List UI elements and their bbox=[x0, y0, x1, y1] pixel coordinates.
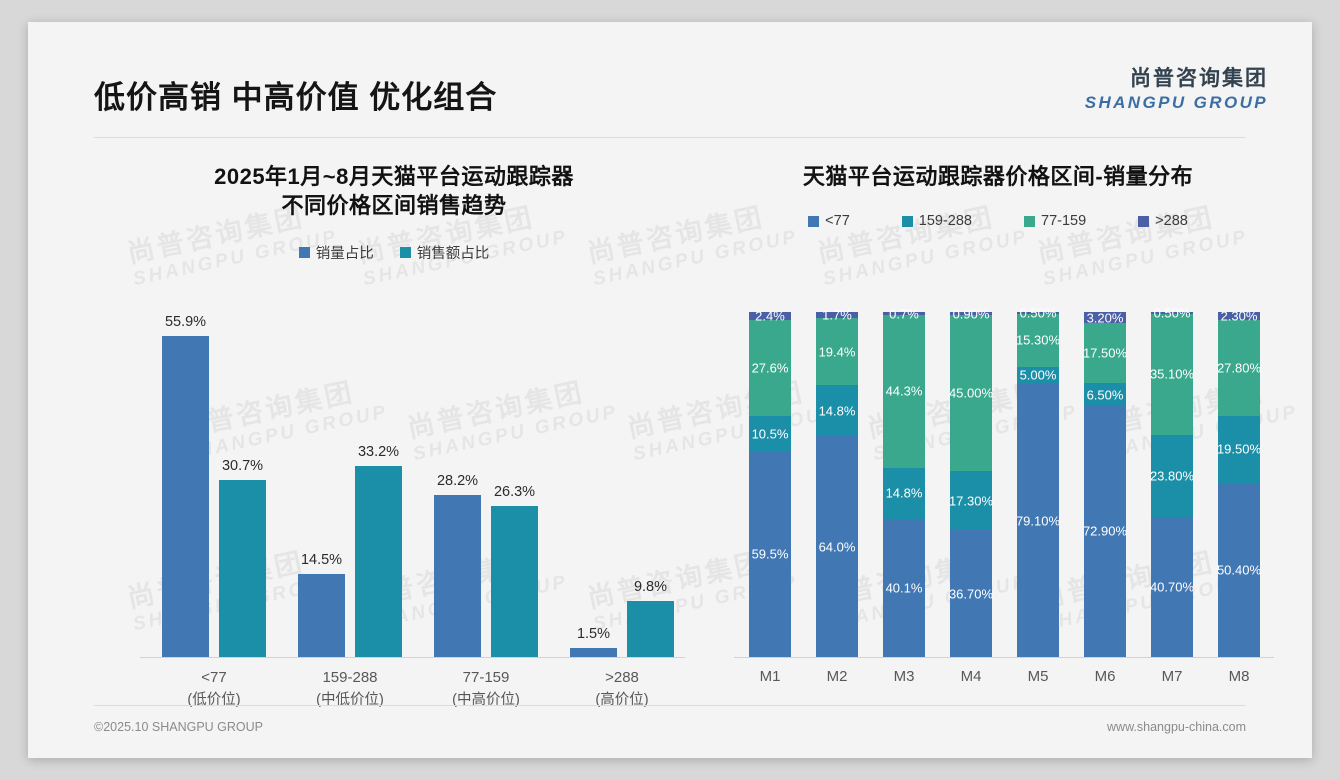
stack-segment[interactable]: 3.20% bbox=[1084, 312, 1126, 323]
legend-label: 77-159 bbox=[1041, 213, 1086, 229]
stack-segment[interactable]: 5.00% bbox=[1017, 367, 1059, 384]
legend-swatch-icon bbox=[1138, 216, 1149, 227]
category-label-sub: (中高价位) bbox=[420, 690, 552, 712]
stacked-bar[interactable]: 40.70%23.80%35.10%0.50% bbox=[1151, 312, 1193, 657]
stack-segment[interactable]: 40.1% bbox=[883, 519, 925, 657]
stack-segment[interactable]: 64.0% bbox=[816, 436, 858, 657]
bar-group: 28.2%26.3% bbox=[420, 312, 552, 657]
logo-chinese-text: 尚普咨询集团 bbox=[1085, 62, 1268, 92]
left-chart-title-line2: 不同价格区间销售趋势 bbox=[94, 191, 694, 220]
left-chart-axis-line bbox=[140, 657, 685, 658]
category-label: M1 bbox=[736, 668, 804, 685]
stack-segment[interactable]: 79.10% bbox=[1017, 384, 1059, 657]
stack-segment[interactable]: 0.7% bbox=[883, 312, 925, 314]
stacked-bar[interactable]: 79.10%5.00%15.30%0.50% bbox=[1017, 312, 1059, 657]
stack-segment[interactable]: 0.90% bbox=[950, 312, 992, 315]
segment-value-label: 15.30% bbox=[1016, 333, 1060, 348]
stack-segment[interactable]: 17.50% bbox=[1084, 323, 1126, 383]
segment-value-label: 2.4% bbox=[755, 309, 785, 324]
category-label: M3 bbox=[870, 668, 938, 685]
legend-item-0[interactable]: 销量占比 bbox=[299, 242, 374, 263]
legend-label: 销量占比 bbox=[316, 242, 374, 263]
stack-segment[interactable]: 27.6% bbox=[749, 320, 791, 415]
stack-segment[interactable]: 19.50% bbox=[1218, 416, 1260, 483]
stacked-bar-group: 36.70%17.30%45.00%0.90% bbox=[937, 312, 1005, 657]
segment-value-label: 79.10% bbox=[1016, 513, 1060, 528]
stack-segment[interactable]: 45.00% bbox=[950, 315, 992, 470]
legend-item-1[interactable]: 159-288 bbox=[902, 213, 972, 229]
segment-value-label: 2.30% bbox=[1221, 308, 1258, 323]
stack-segment[interactable]: 14.8% bbox=[816, 385, 858, 436]
segment-value-label: 14.8% bbox=[819, 403, 856, 418]
bar-group: 55.9%30.7% bbox=[148, 312, 280, 657]
stack-segment[interactable]: 2.4% bbox=[749, 312, 791, 320]
segment-value-label: 0.7% bbox=[889, 306, 919, 321]
stack-segment[interactable]: 23.80% bbox=[1151, 435, 1193, 517]
bar-rect[interactable] bbox=[219, 480, 266, 657]
slide-header: 低价高销 中高价值 优化组合 尚普咨询集团 SHANGPU GROUP bbox=[28, 22, 1312, 114]
bar-value-label: 30.7% bbox=[222, 458, 263, 474]
bar-column[interactable]: 28.2% bbox=[434, 312, 481, 657]
right-chart-axis-line bbox=[734, 657, 1274, 658]
legend-label: 159-288 bbox=[919, 213, 972, 229]
stack-segment[interactable]: 27.80% bbox=[1218, 320, 1260, 416]
legend-swatch-icon bbox=[299, 247, 310, 258]
category-label-main: >288 bbox=[556, 667, 688, 690]
segment-value-label: 27.6% bbox=[752, 360, 789, 375]
category-label: M8 bbox=[1205, 668, 1273, 685]
segment-value-label: 14.8% bbox=[886, 486, 923, 501]
stack-segment[interactable]: 6.50% bbox=[1084, 383, 1126, 405]
stacked-bar-group: 59.5%10.5%27.6%2.4% bbox=[736, 312, 804, 657]
segment-value-label: 23.80% bbox=[1150, 468, 1194, 483]
legend-swatch-icon bbox=[400, 247, 411, 258]
stack-segment[interactable]: 14.8% bbox=[883, 468, 925, 519]
company-logo: 尚普咨询集团 SHANGPU GROUP bbox=[1085, 62, 1268, 113]
logo-english-text: SHANGPU GROUP bbox=[1085, 93, 1268, 113]
footer-copyright: ©2025.10 SHANGPU GROUP bbox=[94, 720, 263, 734]
bar-group: 1.5%9.8% bbox=[556, 312, 688, 657]
stacked-bar-group: 64.0%14.8%19.4%1.7% bbox=[803, 312, 871, 657]
segment-value-label: 40.1% bbox=[886, 580, 923, 595]
legend-item-2[interactable]: 77-159 bbox=[1024, 213, 1086, 229]
stack-segment[interactable]: 0.50% bbox=[1151, 312, 1193, 314]
segment-value-label: 0.50% bbox=[1154, 305, 1191, 320]
stack-segment[interactable]: 0.50% bbox=[1017, 312, 1059, 314]
stack-segment[interactable]: 35.10% bbox=[1151, 314, 1193, 435]
segment-value-label: 17.30% bbox=[949, 493, 993, 508]
left-chart: 2025年1月~8月天猫平台运动跟踪器 不同价格区间销售趋势 销量占比销售额占比… bbox=[94, 162, 694, 722]
category-label-main: <77 bbox=[148, 667, 280, 690]
category-label-main: 77-159 bbox=[420, 667, 552, 690]
segment-value-label: 0.90% bbox=[953, 306, 990, 321]
page-title: 低价高销 中高价值 优化组合 bbox=[94, 72, 497, 117]
legend-item-1[interactable]: 销售额占比 bbox=[400, 242, 490, 263]
left-chart-legend: 销量占比销售额占比 bbox=[94, 242, 694, 263]
category-label-sub: (中低价位) bbox=[284, 690, 416, 712]
stacked-bar-group: 79.10%5.00%15.30%0.50% bbox=[1004, 312, 1072, 657]
segment-value-label: 3.20% bbox=[1087, 310, 1124, 325]
stacked-bar[interactable]: 36.70%17.30%45.00%0.90% bbox=[950, 312, 992, 657]
stacked-bar[interactable]: 40.1%14.8%44.3%0.7% bbox=[883, 312, 925, 657]
bar-value-label: 28.2% bbox=[437, 473, 478, 489]
legend-swatch-icon bbox=[1024, 216, 1035, 227]
segment-value-label: 64.0% bbox=[819, 539, 856, 554]
segment-value-label: 50.40% bbox=[1217, 563, 1261, 578]
stack-segment[interactable]: 44.3% bbox=[883, 315, 925, 468]
stacked-bar-group: 72.90%6.50%17.50%3.20% bbox=[1071, 312, 1139, 657]
category-label: M5 bbox=[1004, 668, 1072, 685]
bar-rect[interactable] bbox=[570, 648, 617, 657]
category-label-main: 159-288 bbox=[284, 667, 416, 690]
segment-value-label: 10.5% bbox=[752, 426, 789, 441]
bar-column[interactable]: 1.5% bbox=[570, 312, 617, 657]
stacked-bar-group: 40.1%14.8%44.3%0.7% bbox=[870, 312, 938, 657]
stack-segment[interactable]: 1.7% bbox=[816, 312, 858, 318]
bar-column[interactable]: 33.2% bbox=[355, 312, 402, 657]
stack-segment[interactable]: 2.30% bbox=[1218, 312, 1260, 320]
bar-rect[interactable] bbox=[355, 466, 402, 657]
category-label-sub: (低价位) bbox=[148, 690, 280, 712]
legend-item-0[interactable]: <77 bbox=[808, 213, 850, 229]
slide-canvas: 尚普咨询集团SHANGPU GROUP尚普咨询集团SHANGPU GROUP尚普… bbox=[28, 22, 1312, 758]
bar-column[interactable]: 55.9% bbox=[162, 312, 209, 657]
stacked-bar-group: 40.70%23.80%35.10%0.50% bbox=[1138, 312, 1206, 657]
legend-label: 销售额占比 bbox=[417, 242, 490, 263]
legend-swatch-icon bbox=[808, 216, 819, 227]
category-label: M2 bbox=[803, 668, 871, 685]
segment-value-label: 1.7% bbox=[822, 308, 852, 323]
segment-value-label: 5.00% bbox=[1020, 368, 1057, 383]
bar-column[interactable]: 9.8% bbox=[627, 312, 674, 657]
bar-value-label: 9.8% bbox=[634, 579, 667, 595]
bar-value-label: 14.5% bbox=[301, 552, 342, 568]
bar-value-label: 33.2% bbox=[358, 444, 399, 460]
segment-value-label: 0.50% bbox=[1020, 306, 1057, 321]
segment-value-label: 19.50% bbox=[1217, 442, 1261, 457]
segment-value-label: 35.10% bbox=[1150, 367, 1194, 382]
right-chart-plot-area: 59.5%10.5%27.6%2.4%64.0%14.8%19.4%1.7%40… bbox=[734, 312, 1274, 657]
segment-value-label: 40.70% bbox=[1150, 579, 1194, 594]
category-label: M7 bbox=[1138, 668, 1206, 685]
category-label: M4 bbox=[937, 668, 1005, 685]
stack-segment[interactable]: 59.5% bbox=[749, 452, 791, 657]
segment-value-label: 6.50% bbox=[1087, 387, 1124, 402]
stacked-bar[interactable]: 64.0%14.8%19.4%1.7% bbox=[816, 312, 858, 657]
stack-segment[interactable]: 19.4% bbox=[816, 318, 858, 385]
legend-label: >288 bbox=[1155, 213, 1188, 229]
stacked-bar[interactable]: 59.5%10.5%27.6%2.4% bbox=[749, 312, 791, 657]
right-chart-title: 天猫平台运动跟踪器价格区间-销量分布 bbox=[718, 162, 1278, 191]
legend-label: <77 bbox=[825, 213, 850, 229]
bar-rect[interactable] bbox=[434, 495, 481, 657]
segment-value-label: 19.4% bbox=[819, 344, 856, 359]
segment-value-label: 45.00% bbox=[949, 386, 993, 401]
segment-value-label: 59.5% bbox=[752, 547, 789, 562]
stacked-bar[interactable]: 50.40%19.50%27.80%2.30% bbox=[1218, 312, 1260, 657]
left-chart-title: 2025年1月~8月天猫平台运动跟踪器 不同价格区间销售趋势 bbox=[94, 162, 694, 220]
stack-segment[interactable]: 50.40% bbox=[1218, 483, 1260, 657]
bar-value-label: 55.9% bbox=[165, 314, 206, 330]
segment-value-label: 44.3% bbox=[886, 384, 923, 399]
right-chart-legend: <77159-28877-159>288 bbox=[718, 213, 1278, 229]
stack-segment[interactable]: 10.5% bbox=[749, 416, 791, 452]
segment-value-label: 27.80% bbox=[1217, 360, 1261, 375]
bar-rect[interactable] bbox=[627, 601, 674, 657]
left-chart-plot-area: 55.9%30.7%14.5%33.2%28.2%26.3%1.5%9.8% bbox=[140, 312, 685, 657]
category-label: M6 bbox=[1071, 668, 1139, 685]
stack-segment[interactable]: 72.90% bbox=[1084, 406, 1126, 657]
stacked-bar[interactable]: 72.90%6.50%17.50%3.20% bbox=[1084, 312, 1126, 657]
bar-group: 14.5%33.2% bbox=[284, 312, 416, 657]
footer-divider bbox=[94, 705, 1246, 706]
right-chart: 天猫平台运动跟踪器价格区间-销量分布 <77159-28877-159>288 … bbox=[718, 162, 1278, 722]
segment-value-label: 36.70% bbox=[949, 586, 993, 601]
stack-segment[interactable]: 36.70% bbox=[950, 530, 992, 657]
stack-segment[interactable]: 15.30% bbox=[1017, 314, 1059, 367]
left-chart-title-line1: 2025年1月~8月天猫平台运动跟踪器 bbox=[94, 162, 694, 191]
stack-segment[interactable]: 40.70% bbox=[1151, 517, 1193, 657]
stacked-bar-group: 50.40%19.50%27.80%2.30% bbox=[1205, 312, 1273, 657]
bar-value-label: 26.3% bbox=[494, 484, 535, 500]
bar-column[interactable]: 14.5% bbox=[298, 312, 345, 657]
stack-segment[interactable]: 17.30% bbox=[950, 471, 992, 531]
header-divider bbox=[94, 137, 1246, 138]
bar-column[interactable]: 30.7% bbox=[219, 312, 266, 657]
bar-value-label: 1.5% bbox=[577, 626, 610, 642]
category-label-sub: (高价位) bbox=[556, 690, 688, 712]
legend-item-3[interactable]: >288 bbox=[1138, 213, 1188, 229]
bar-rect[interactable] bbox=[491, 506, 538, 657]
legend-swatch-icon bbox=[902, 216, 913, 227]
footer-website[interactable]: www.shangpu-china.com bbox=[1107, 720, 1246, 734]
bar-rect[interactable] bbox=[298, 574, 345, 657]
bar-column[interactable]: 26.3% bbox=[491, 312, 538, 657]
segment-value-label: 72.90% bbox=[1083, 524, 1127, 539]
segment-value-label: 17.50% bbox=[1083, 346, 1127, 361]
bar-rect[interactable] bbox=[162, 336, 209, 657]
